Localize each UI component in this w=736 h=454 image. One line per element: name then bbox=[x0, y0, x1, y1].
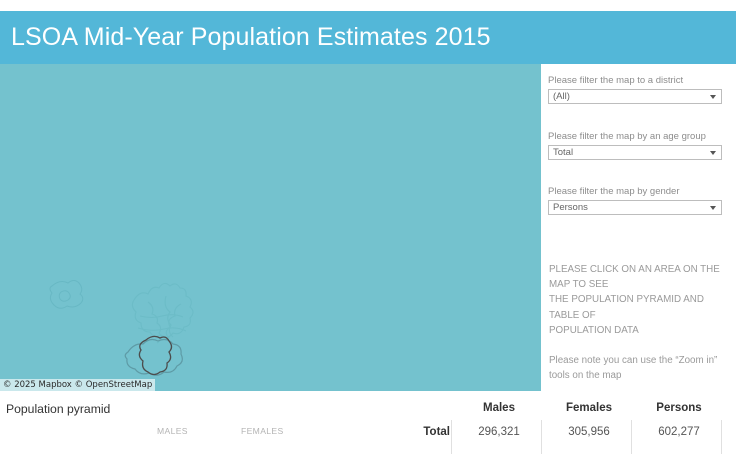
table-header-row: Males Females Persons bbox=[451, 396, 736, 420]
cell-total-males: 296,321 bbox=[457, 426, 541, 438]
filter-gender-label: Please filter the map by gender bbox=[548, 185, 722, 198]
map-canvas[interactable]: © 2025 Mapbox © OpenStreetMap bbox=[0, 64, 541, 391]
filter-panel: Please filter the map to a district (All… bbox=[541, 64, 736, 391]
instruction-zoom-tools: Please note you can use the “Zoom in” to… bbox=[549, 353, 725, 383]
filter-age-group: Please filter the map by an age group To… bbox=[548, 130, 722, 160]
filter-gender-select[interactable]: Persons bbox=[548, 200, 722, 215]
pyramid-title: Population pyramid bbox=[6, 402, 110, 416]
filter-gender: Please filter the map by gender Persons bbox=[548, 185, 722, 215]
filter-gender-value: Persons bbox=[553, 201, 703, 214]
column-header-females: Females bbox=[547, 402, 631, 414]
table-row: Total 296,321 305,956 602,277 bbox=[451, 420, 736, 454]
chevron-down-icon[interactable] bbox=[710, 206, 716, 210]
page-title: LSOA Mid-Year Population Estimates 2015 bbox=[0, 23, 491, 52]
chevron-down-icon[interactable] bbox=[710, 151, 716, 155]
pyramid-axis-label-females: FEMALES bbox=[241, 426, 284, 436]
chevron-down-icon[interactable] bbox=[710, 95, 716, 99]
dashboard-root: LSOA Mid-Year Population Estimates 2015 bbox=[0, 0, 736, 454]
page-header: LSOA Mid-Year Population Estimates 2015 bbox=[0, 11, 736, 64]
filter-district-select[interactable]: (All) bbox=[548, 89, 722, 104]
column-header-persons: Persons bbox=[637, 402, 721, 414]
map-attribution: © 2025 Mapbox © OpenStreetMap bbox=[0, 379, 155, 391]
filter-age-group-value: Total bbox=[553, 146, 703, 159]
panel-instructions: PLEASE CLICK ON AN AREA ON THE MAP TO SE… bbox=[549, 262, 725, 383]
cell-total-persons: 602,277 bbox=[637, 426, 721, 438]
instruction-click-map: PLEASE CLICK ON AN AREA ON THE MAP TO SE… bbox=[549, 262, 725, 338]
filter-district-value: (All) bbox=[553, 90, 703, 103]
map-outlines-icon bbox=[0, 64, 541, 391]
filter-age-group-label: Please filter the map by an age group bbox=[548, 130, 722, 143]
row-label-total: Total bbox=[400, 426, 450, 438]
filter-district: Please filter the map to a district (All… bbox=[548, 74, 722, 104]
filter-age-group-select[interactable]: Total bbox=[548, 145, 722, 160]
population-pyramid-pane: Population pyramid MALES FEMALES Males F… bbox=[0, 391, 736, 454]
top-spacer bbox=[0, 0, 736, 11]
cell-total-females: 305,956 bbox=[547, 426, 631, 438]
filter-district-label: Please filter the map to a district bbox=[548, 74, 722, 87]
population-table: Males Females Persons Total 296,321 305,… bbox=[451, 396, 736, 454]
column-header-males: Males bbox=[457, 402, 541, 414]
pyramid-axis-label-males: MALES bbox=[157, 426, 188, 436]
